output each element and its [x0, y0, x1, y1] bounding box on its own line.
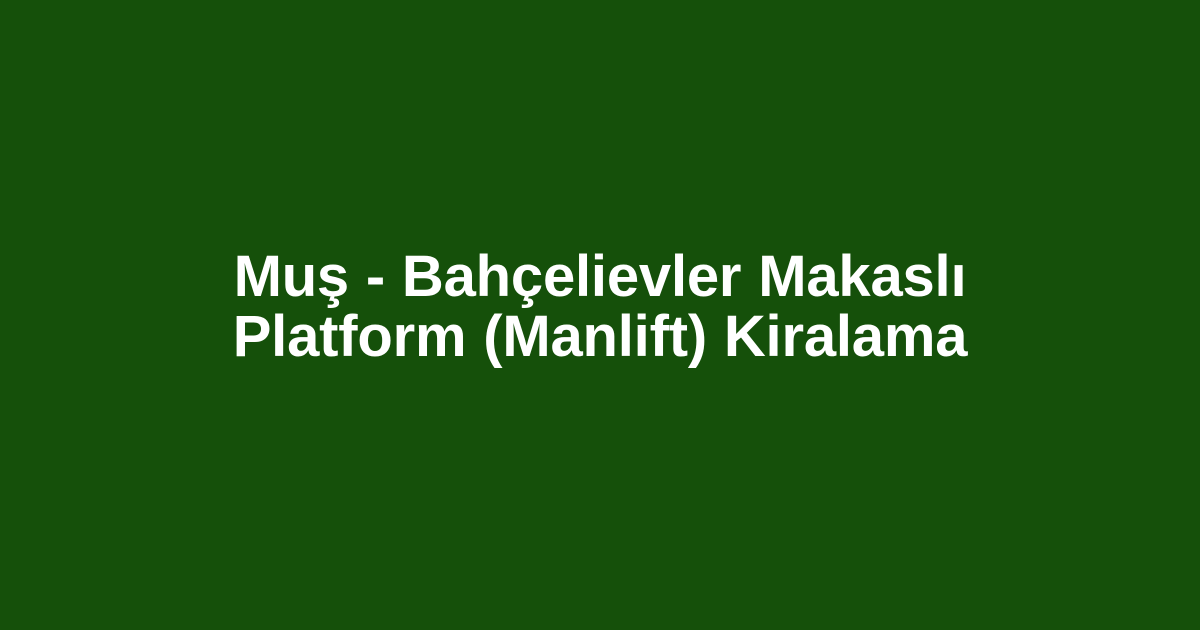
- headline-block: Muş - Bahçelievler Makaslı Platform (Man…: [100, 247, 1100, 367]
- og-share-card: Muş - Bahçelievler Makaslı Platform (Man…: [0, 0, 1200, 630]
- page-title: Muş - Bahçelievler Makaslı Platform (Man…: [120, 247, 1080, 367]
